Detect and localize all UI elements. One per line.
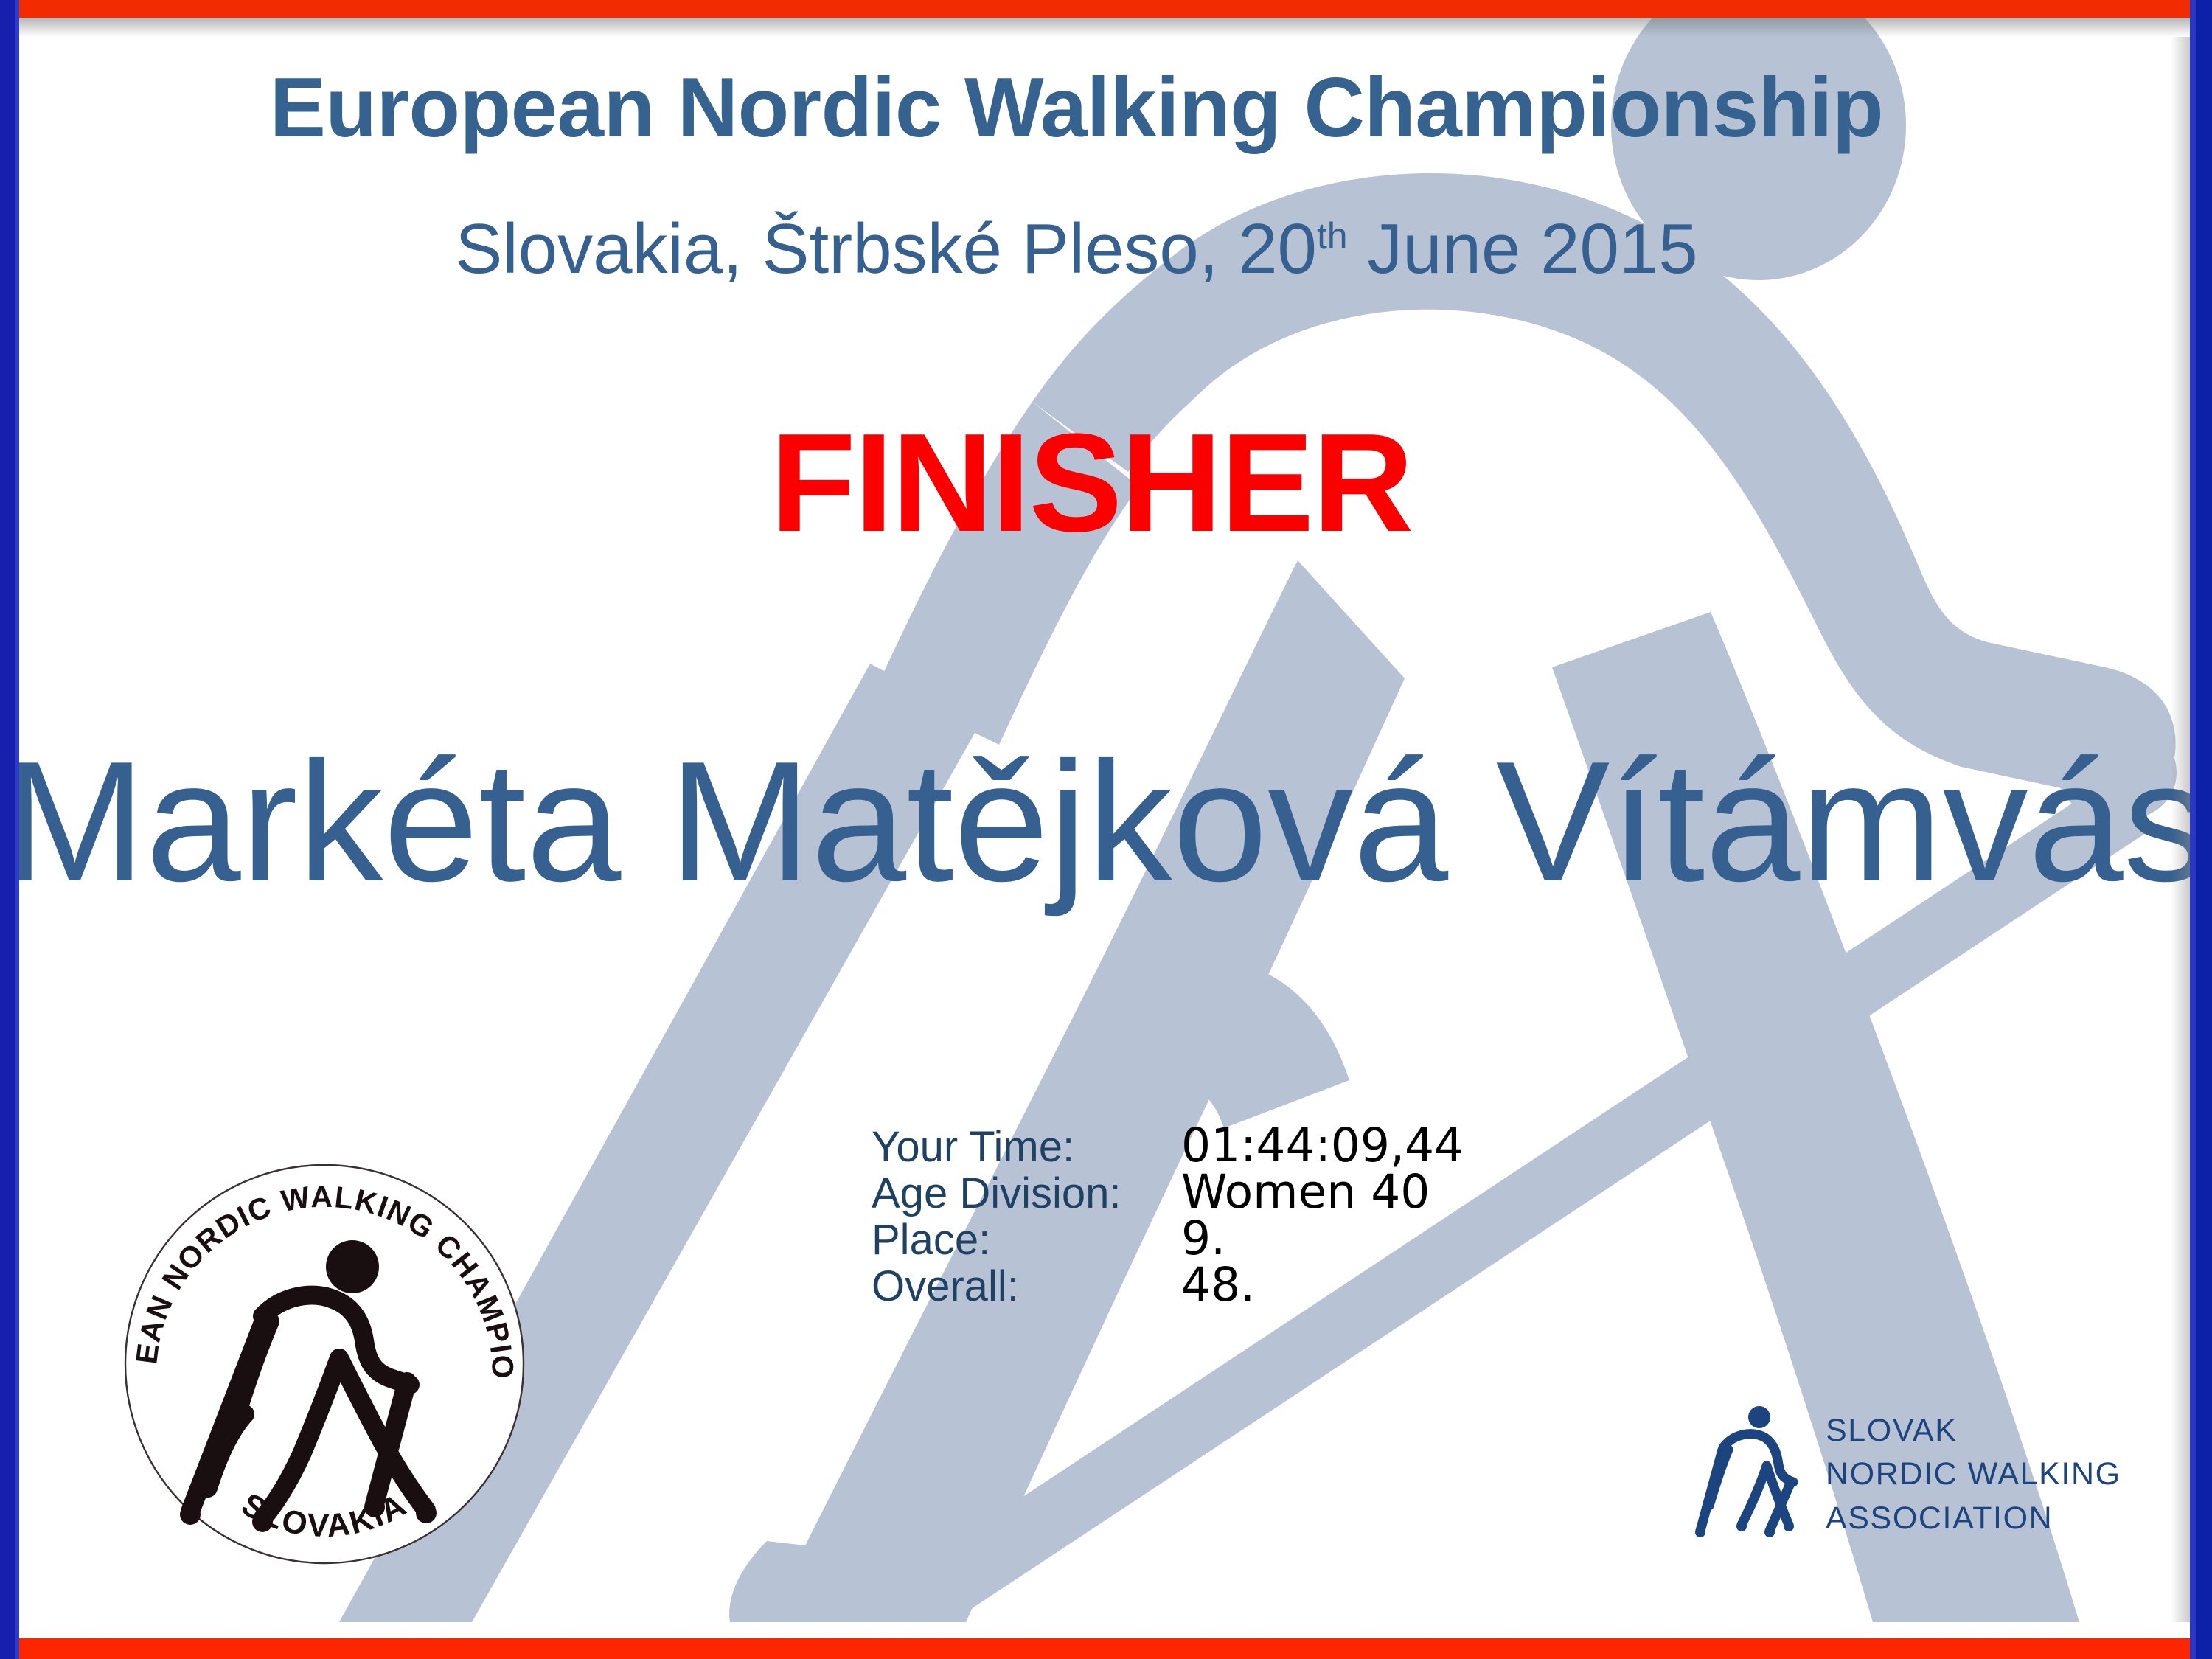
result-label-place: Place:: [872, 1217, 1181, 1263]
event-circular-logo: EUROPEAN NORDIC WALKING CHAMPIONSHIP SLO…: [118, 1158, 531, 1571]
association-line-2: NORDIC WALKING: [1826, 1453, 2121, 1496]
result-value-age-division: Women 40: [1181, 1169, 1430, 1215]
result-value-overall: 48.: [1181, 1262, 1255, 1308]
subtitle-place-date: Slovakia, Štrbské Pleso, 20: [455, 209, 1317, 288]
result-label-age-division: Age Division:: [872, 1170, 1181, 1217]
border-right-blue-inner: [2190, 0, 2196, 1659]
finisher-status-text: FINISHER: [0, 413, 2183, 553]
event-subtitle: Slovakia, Štrbské Pleso, 20th June 2015: [0, 214, 2153, 285]
association-line-3: ASSOCIATION: [1826, 1497, 2121, 1540]
subtitle-ordinal-suffix: th: [1317, 215, 1348, 257]
border-top-red: [0, 0, 2212, 18]
border-right-blue: [2196, 0, 2212, 1659]
result-value-place: 9.: [1181, 1215, 1225, 1262]
result-row-place: Place: 9.: [872, 1215, 1464, 1262]
border-bottom-red: [0, 1638, 2212, 1659]
results-block: Your Time: 01:44:09,44 Age Division: Wom…: [872, 1122, 1464, 1308]
top-border-shadow: [0, 18, 2212, 37]
association-line-1: SLOVAK: [1826, 1409, 2121, 1453]
border-left-blue: [0, 0, 15, 1659]
result-label-your-time: Your Time:: [872, 1124, 1181, 1170]
finisher-certificate: European Nordic Walking Championship Slo…: [0, 0, 2212, 1659]
association-walker-icon: [1688, 1401, 1806, 1548]
result-row-your-time: Your Time: 01:44:09,44: [872, 1122, 1464, 1169]
athlete-name-container: Markéta Matějková Vítámvás: [0, 726, 2212, 955]
event-title: European Nordic Walking Championship: [0, 66, 2153, 150]
right-border-shadow: [2171, 37, 2190, 1622]
association-logo: SLOVAK NORDIC WALKING ASSOCIATION: [1688, 1390, 2146, 1559]
result-label-overall: Overall:: [872, 1263, 1181, 1310]
subtitle-month-year: June 2015: [1348, 209, 1698, 288]
result-value-your-time: 01:44:09,44: [1181, 1122, 1464, 1169]
athlete-name: Markéta Matějková Vítámvás: [3, 726, 2208, 918]
border-left-blue-inner: [15, 0, 19, 1659]
association-name: SLOVAK NORDIC WALKING ASSOCIATION: [1826, 1409, 2121, 1540]
result-row-age-division: Age Division: Women 40: [872, 1169, 1464, 1215]
result-row-overall: Overall: 48.: [872, 1262, 1464, 1308]
